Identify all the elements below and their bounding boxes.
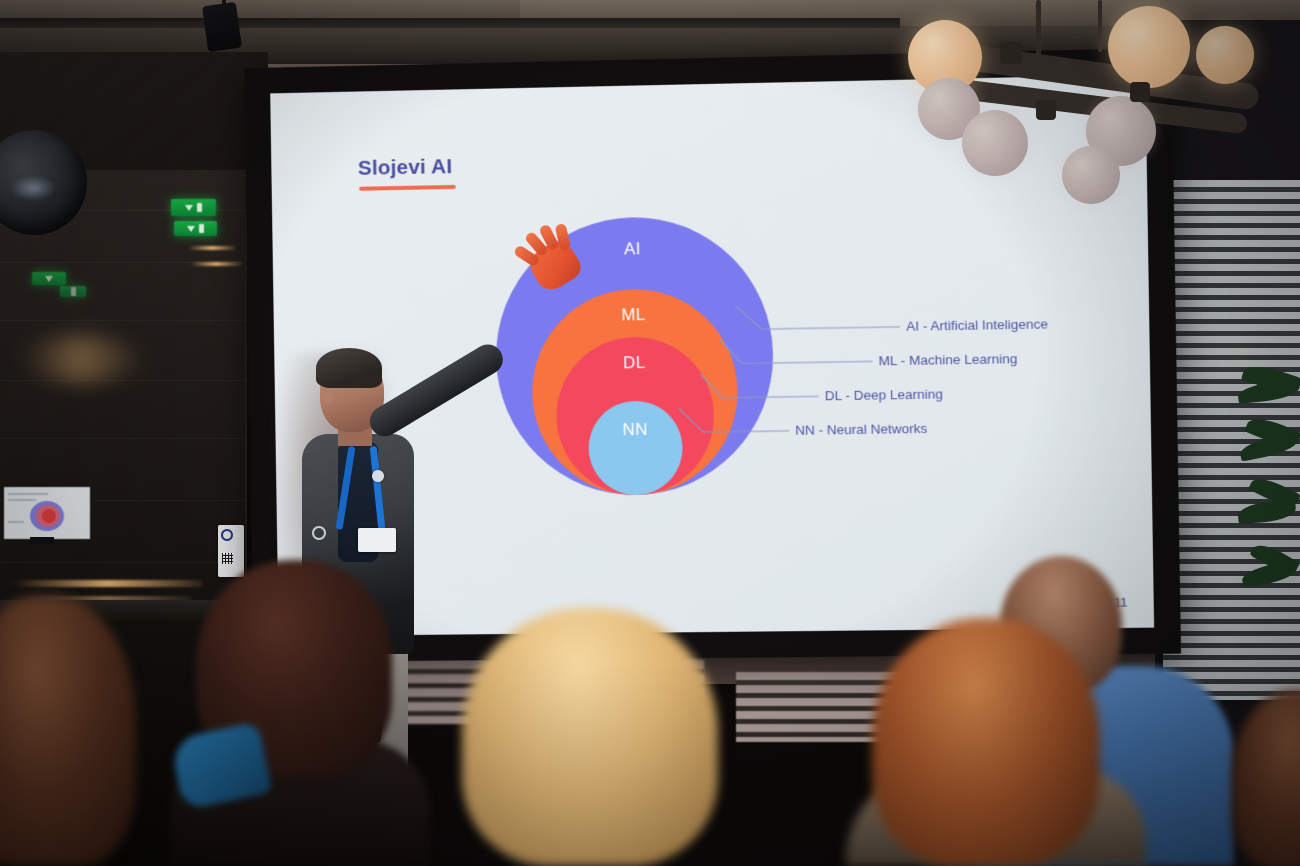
attendee-auburn-head	[872, 618, 1100, 866]
qr-code-icon	[222, 553, 233, 564]
warm-light-strip	[12, 580, 202, 587]
chandelier-bulb	[962, 110, 1028, 176]
exit-person-icon	[71, 287, 76, 296]
bulb-socket	[1036, 100, 1056, 120]
exit-sign-secondary	[174, 221, 217, 236]
presenter-jacket-logo	[312, 526, 346, 540]
confidence-monitor	[2, 485, 92, 541]
presenter-hair	[316, 348, 382, 388]
monitor-venn-inner	[42, 509, 56, 523]
exit-sign-reflection-2	[60, 286, 86, 297]
legend-item-nn: NN - Neural Networks	[795, 421, 927, 438]
chandelier-stem	[1036, 0, 1041, 62]
potted-plant	[1238, 356, 1300, 686]
slide-title: Slojevi AI	[358, 155, 453, 181]
legend-item-ml: ML - Machine Learning	[878, 351, 1017, 368]
legend-item-dl: DL - Deep Learning	[825, 386, 943, 403]
exit-sign-reflection	[32, 272, 66, 285]
chandelier-stem-2	[1098, 0, 1102, 52]
chandelier-bulb	[1062, 146, 1120, 204]
exit-arrow-icon	[185, 205, 193, 211]
legend-item-ai: AI - Artificial Inteligence	[906, 316, 1048, 333]
bulb-socket	[1130, 82, 1150, 102]
warm-light-glow	[20, 336, 140, 382]
warm-light-strip	[188, 246, 236, 250]
warm-light-strip	[190, 262, 242, 266]
brand-logo-icon	[312, 526, 326, 540]
exit-arrow-icon	[45, 276, 53, 282]
presenter-ear	[322, 388, 334, 404]
glass-partition	[0, 170, 247, 640]
exit-person-icon	[197, 203, 202, 212]
ceiling-spotlight	[202, 2, 242, 52]
ceiling-beam-metal	[0, 18, 900, 28]
monitor-stand	[30, 537, 54, 544]
disco-ball-sparkle	[10, 175, 56, 201]
presentation-photo-scene: Slojevi AI AI ML DL NN	[0, 0, 1300, 866]
chandelier-bulb	[1196, 26, 1254, 84]
presenter-lapel-pin	[372, 470, 384, 482]
bulb-socket	[1000, 42, 1022, 64]
exit-sign	[171, 199, 216, 216]
brand-logo-icon	[221, 529, 233, 541]
presenter-name-badge	[358, 528, 396, 552]
title-underline-rule	[359, 185, 456, 191]
qr-table-sign	[218, 525, 244, 577]
chandelier-bulb	[1108, 6, 1190, 88]
exit-arrow-icon	[187, 226, 195, 232]
exit-person-icon	[199, 224, 204, 233]
attendee-blonde-head	[462, 608, 718, 866]
